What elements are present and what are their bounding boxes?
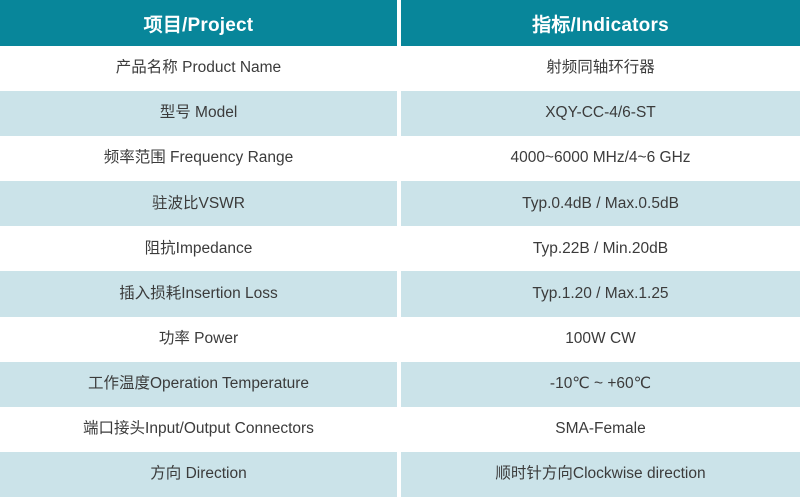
cell-project: 产品名称 Product Name: [0, 46, 397, 91]
cell-project: 频率范围 Frequency Range: [0, 136, 397, 181]
cell-indicator: 射频同轴环行器: [401, 46, 800, 91]
cell-project: 功率 Power: [0, 317, 397, 362]
cell-project: 阻抗Impedance: [0, 226, 397, 271]
cell-indicator: -10℃ ~ +60℃: [401, 362, 800, 407]
table-row: 端口接头Input/Output Connectors SMA-Female: [0, 407, 800, 452]
cell-indicator: 100W CW: [401, 317, 800, 362]
table-row: 功率 Power 100W CW: [0, 317, 800, 362]
cell-indicator: XQY-CC-4/6-ST: [401, 91, 800, 136]
table-row: 方向 Direction 顺时针方向Clockwise direction: [0, 452, 800, 497]
table-row: 插入损耗Insertion Loss Typ.1.20 / Max.1.25: [0, 271, 800, 316]
cell-project: 插入损耗Insertion Loss: [0, 271, 397, 316]
cell-indicator: Typ.22B / Min.20dB: [401, 226, 800, 271]
cell-indicator: 顺时针方向Clockwise direction: [401, 452, 800, 497]
specification-table: 项目/Project 指标/Indicators 产品名称 Product Na…: [0, 0, 800, 497]
cell-indicator: 4000~6000 MHz/4~6 GHz: [401, 136, 800, 181]
cell-project: 方向 Direction: [0, 452, 397, 497]
cell-indicator: SMA-Female: [401, 407, 800, 452]
column-header-indicators: 指标/Indicators: [401, 0, 800, 46]
table-row: 工作温度Operation Temperature -10℃ ~ +60℃: [0, 362, 800, 407]
table-row: 型号 Model XQY-CC-4/6-ST: [0, 91, 800, 136]
cell-project: 型号 Model: [0, 91, 397, 136]
table-row: 驻波比VSWR Typ.0.4dB / Max.0.5dB: [0, 181, 800, 226]
table-row: 频率范围 Frequency Range 4000~6000 MHz/4~6 G…: [0, 136, 800, 181]
table-row: 产品名称 Product Name 射频同轴环行器: [0, 46, 800, 91]
table-header-row: 项目/Project 指标/Indicators: [0, 0, 800, 46]
cell-indicator: Typ.0.4dB / Max.0.5dB: [401, 181, 800, 226]
cell-indicator: Typ.1.20 / Max.1.25: [401, 271, 800, 316]
table-row: 阻抗Impedance Typ.22B / Min.20dB: [0, 226, 800, 271]
cell-project: 驻波比VSWR: [0, 181, 397, 226]
column-header-project: 项目/Project: [0, 0, 397, 46]
cell-project: 工作温度Operation Temperature: [0, 362, 397, 407]
cell-project: 端口接头Input/Output Connectors: [0, 407, 397, 452]
